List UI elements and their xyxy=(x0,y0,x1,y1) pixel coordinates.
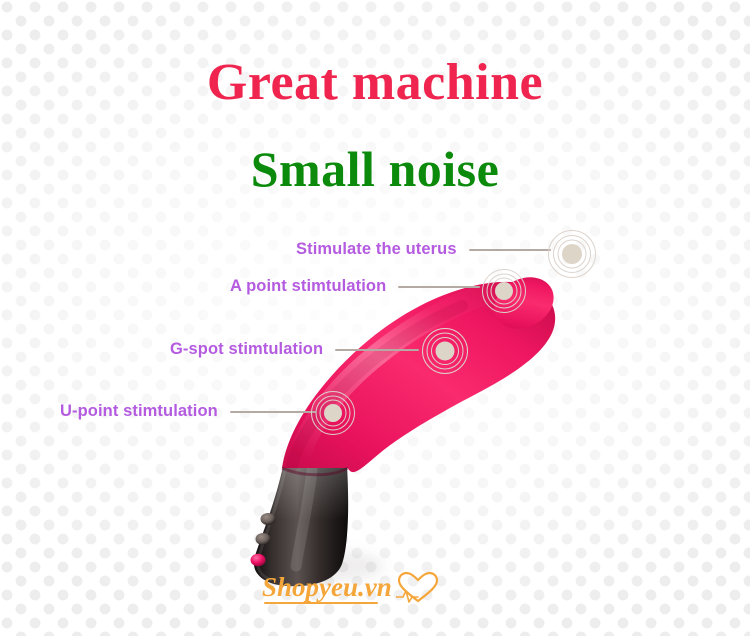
button-mode-lower[interactable] xyxy=(256,533,271,545)
headline-secondary: Small noise xyxy=(0,143,750,196)
callout-label: U-point stimtulation xyxy=(60,402,218,421)
site-watermark: Shopyeu.vn xyxy=(262,570,440,604)
callout-label: G-spot stimtulation xyxy=(170,340,323,359)
product-body xyxy=(282,267,563,475)
button-mode-upper[interactable] xyxy=(261,513,276,525)
headline-block: Great machine Small noise xyxy=(0,56,750,195)
watermark-underline xyxy=(264,602,378,604)
callout-leader-line xyxy=(335,349,419,351)
product-infographic: Great machine Small noise xyxy=(0,0,750,636)
product-handle xyxy=(254,466,348,586)
callout-stimulate-the-uterus: Stimulate the uterus xyxy=(296,240,553,259)
callout-leader-line xyxy=(230,411,316,413)
callout-label: Stimulate the uterus xyxy=(296,240,457,259)
callout-leader-line xyxy=(398,286,480,288)
heart-outline-icon xyxy=(396,570,440,604)
button-power[interactable] xyxy=(251,554,266,566)
callout-g-spot-stimtulation: G-spot stimtulation xyxy=(170,340,421,359)
watermark-label: Shopyeu.vn xyxy=(262,572,392,602)
callout-leader-line xyxy=(469,249,551,251)
watermark-text-wrap: Shopyeu.vn xyxy=(262,574,392,601)
callout-a-point-stimtulation: A point stimtulation xyxy=(230,277,482,296)
headline-primary: Great machine xyxy=(0,56,750,111)
callout-u-point-stimtulation: U-point stimtulation xyxy=(60,402,318,421)
callout-label: A point stimtulation xyxy=(230,277,386,296)
